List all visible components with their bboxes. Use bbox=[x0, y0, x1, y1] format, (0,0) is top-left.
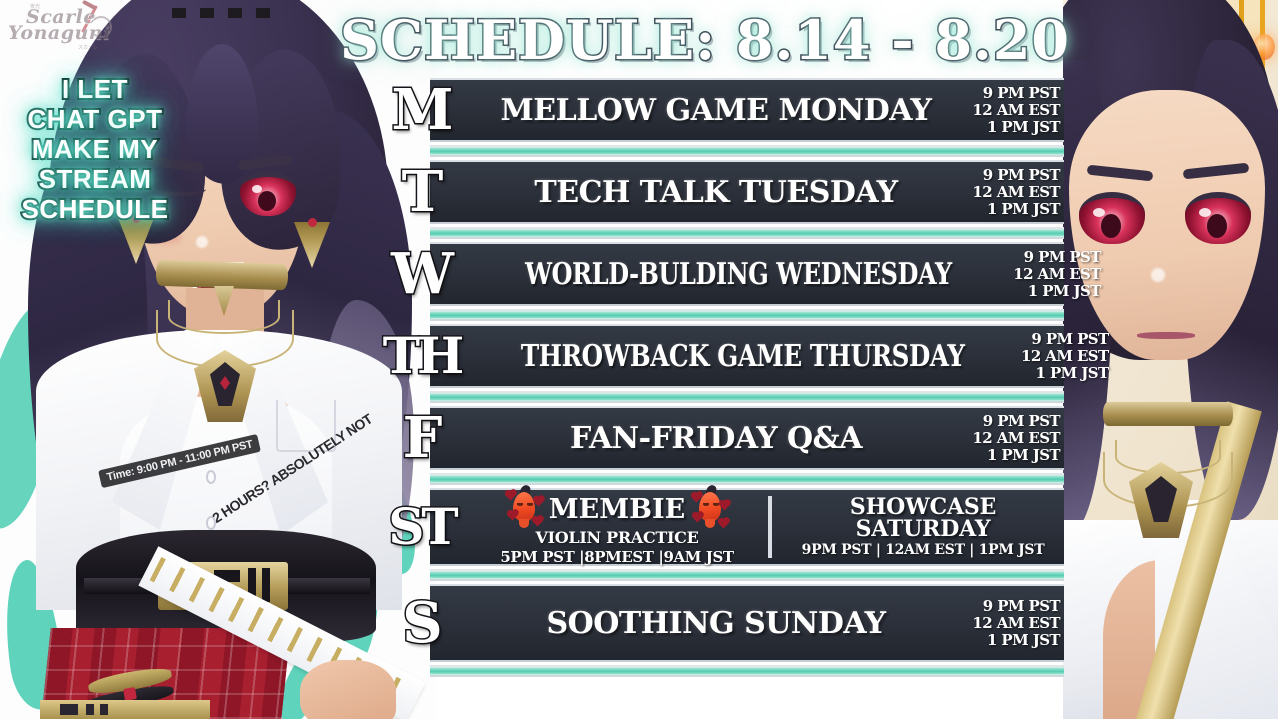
choker-inlay bbox=[256, 8, 270, 18]
time-jst: 1 PM JST bbox=[960, 119, 1060, 136]
character-eye-left bbox=[1079, 192, 1145, 244]
time-est: 12 AM EST bbox=[1021, 348, 1109, 365]
event-title: FAN-FRIDAY Q&A bbox=[430, 421, 960, 456]
time-est: 12 AM EST bbox=[960, 615, 1060, 632]
membie-block[interactable]: MEMBIE bbox=[476, 488, 758, 566]
row-divider bbox=[430, 145, 1064, 157]
character-eye-glint bbox=[252, 185, 262, 193]
event-title: MELLOW GAME MONDAY bbox=[430, 93, 960, 128]
schedule-row-thursday[interactable]: TH THROWBACK GAME THURSDAY 9 PM PST 12 A… bbox=[430, 324, 1064, 388]
gold-choker bbox=[1103, 402, 1233, 426]
schedule-row-friday[interactable]: F FAN-FRIDAY Q&A 9 PM PST 12 AM EST 1 PM… bbox=[430, 406, 1064, 470]
heart-icon bbox=[720, 501, 730, 511]
hem-cutout bbox=[60, 704, 78, 715]
character-pupil bbox=[258, 191, 276, 211]
gold-choker bbox=[156, 260, 289, 291]
logo-line-2: Yonaguni bbox=[8, 22, 111, 44]
time-pst: 9 PM PST bbox=[960, 413, 1060, 430]
character-hand bbox=[300, 660, 396, 719]
saturday-vertical-divider bbox=[768, 496, 772, 558]
event-title: WORLD-BULDING WEDNESDAY bbox=[488, 257, 955, 292]
character-mouth bbox=[1137, 332, 1195, 339]
heart-icon bbox=[533, 497, 543, 507]
event-title: THROWBACK GAME THURSDAY bbox=[483, 339, 968, 374]
row-divider bbox=[430, 473, 1064, 485]
schedule-graphic: Time: 9:00 PM - 11:00 PM PST 2 HOURS? AB… bbox=[0, 0, 1278, 719]
hook-text-block: I LET CHAT GPT MAKE MY STREAM SCHEDULE bbox=[20, 74, 170, 224]
heart-icon bbox=[505, 491, 515, 501]
hook-line-1: I LET bbox=[20, 74, 170, 104]
membie-times: 5PM PST |8PMEST |9AM JST bbox=[500, 548, 733, 566]
character-eye-glint bbox=[1093, 208, 1105, 217]
channel-logo-watermark: 夜光 Scarle Yonaguni スカーレ bbox=[4, 2, 122, 54]
showcase-block[interactable]: SHOWCASE SATURDAY 9PM PST | 12AM EST | 1… bbox=[782, 488, 1064, 566]
character-pupil bbox=[1101, 214, 1121, 238]
time-list: 9 PM PST 12 AM EST 1 PM JST bbox=[1013, 249, 1105, 300]
character-eye-open bbox=[240, 172, 296, 216]
time-list: 9 PM PST 12 AM EST 1 PM JST bbox=[960, 598, 1064, 649]
showcase-times: 9PM PST | 12AM EST | 1PM JST bbox=[802, 542, 1045, 558]
hook-line-3: MAKE MY bbox=[20, 134, 170, 164]
time-list: 9 PM PST 12 AM EST 1 PM JST bbox=[960, 167, 1064, 218]
time-jst: 1 PM JST bbox=[960, 201, 1060, 218]
time-est: 12 AM EST bbox=[960, 184, 1060, 201]
choker-inlay bbox=[228, 8, 242, 18]
heart-icon bbox=[532, 517, 542, 527]
character-eye-right bbox=[1185, 192, 1251, 244]
flame-mascot-icon bbox=[693, 488, 727, 530]
membie-title-line: MEMBIE bbox=[507, 488, 727, 530]
character-nose bbox=[1151, 268, 1165, 282]
time-list: 9 PM PST 12 AM EST 1 PM JST bbox=[960, 413, 1064, 464]
character-eye-glint bbox=[1199, 208, 1211, 217]
time-pst: 9 PM PST bbox=[1013, 249, 1101, 266]
hook-line-5: SCHEDULE bbox=[20, 194, 170, 224]
row-divider bbox=[430, 227, 1064, 239]
mascot-eye bbox=[517, 503, 523, 506]
choker-inlay bbox=[200, 8, 214, 18]
mascot-eye bbox=[527, 503, 533, 506]
row-divider bbox=[430, 309, 1064, 321]
row-divider bbox=[430, 665, 1064, 677]
mascot-foot bbox=[705, 519, 715, 528]
time-pst: 9 PM PST bbox=[960, 85, 1060, 102]
flame-mascot-icon bbox=[507, 488, 541, 530]
logo-ruby-bottom: スカーレ bbox=[78, 44, 98, 51]
character-nose bbox=[196, 236, 208, 248]
hook-line-2: CHAT GPT bbox=[20, 104, 170, 134]
schedule-row-tuesday[interactable]: T TECH TALK TUESDAY 9 PM PST 12 AM EST 1… bbox=[430, 160, 1064, 224]
time-est: 12 AM EST bbox=[960, 430, 1060, 447]
time-pst: 9 PM PST bbox=[960, 598, 1060, 615]
schedule-row-saturday[interactable]: ST bbox=[430, 488, 1064, 566]
showcase-title-line1: SHOWCASE bbox=[850, 496, 996, 518]
time-jst: 1 PM JST bbox=[960, 632, 1060, 649]
bangle-gem bbox=[123, 687, 137, 701]
time-jst: 1 PM JST bbox=[1013, 283, 1101, 300]
time-jst: 1 PM JST bbox=[1021, 365, 1109, 382]
shirt-button bbox=[206, 470, 216, 484]
hem-cutout bbox=[86, 704, 94, 715]
row-divider bbox=[430, 569, 1064, 581]
mascot-body bbox=[699, 492, 721, 522]
time-pst: 9 PM PST bbox=[960, 167, 1060, 184]
hem-cutout bbox=[100, 704, 108, 715]
character-pupil bbox=[1207, 214, 1227, 238]
membie-title: MEMBIE bbox=[549, 494, 685, 525]
saturday-split: MEMBIE bbox=[430, 488, 1064, 566]
time-est: 12 AM EST bbox=[1013, 266, 1101, 283]
membie-subtitle: VIOLIN PRACTICE bbox=[535, 528, 698, 547]
hook-line-4: STREAM bbox=[20, 164, 170, 194]
heart-icon bbox=[719, 519, 729, 529]
time-est: 12 AM EST bbox=[960, 102, 1060, 119]
time-jst: 1 PM JST bbox=[960, 447, 1060, 464]
schedule-row-monday[interactable]: M MELLOW GAME MONDAY 9 PM PST 12 AM EST … bbox=[430, 78, 1064, 142]
schedule-rows: M MELLOW GAME MONDAY 9 PM PST 12 AM EST … bbox=[430, 78, 1064, 680]
time-pst: 9 PM PST bbox=[1021, 331, 1109, 348]
row-divider bbox=[430, 391, 1064, 403]
schedule-row-sunday[interactable]: S SOOTHING SUNDAY 9 PM PST 12 AM EST 1 P… bbox=[430, 584, 1064, 662]
earring-gem bbox=[308, 218, 317, 227]
event-title: TECH TALK TUESDAY bbox=[430, 175, 960, 210]
showcase-title: SHOWCASE SATURDAY bbox=[850, 496, 996, 540]
title-container: SCHEDULE: 8.14 - 8.20 bbox=[340, 8, 1070, 72]
choker-inlay bbox=[172, 8, 186, 18]
page-title: SCHEDULE: 8.14 - 8.20 bbox=[340, 8, 1070, 72]
event-title: SOOTHING SUNDAY bbox=[430, 606, 960, 641]
schedule-row-wednesday[interactable]: W WORLD-BULDING WEDNESDAY 9 PM PST 12 AM… bbox=[430, 242, 1064, 306]
heart-icon bbox=[693, 513, 703, 523]
buckle-cutout bbox=[262, 568, 270, 602]
mascot-foot bbox=[519, 519, 529, 528]
time-list: 9 PM PST 12 AM EST 1 PM JST bbox=[960, 85, 1064, 136]
showcase-title-line2: SATURDAY bbox=[850, 518, 996, 540]
time-list: 9 PM PST 12 AM EST 1 PM JST bbox=[1021, 331, 1113, 382]
schedule-panel: SCHEDULE: 8.14 - 8.20 M MELLOW GAME MOND… bbox=[430, 0, 1064, 719]
